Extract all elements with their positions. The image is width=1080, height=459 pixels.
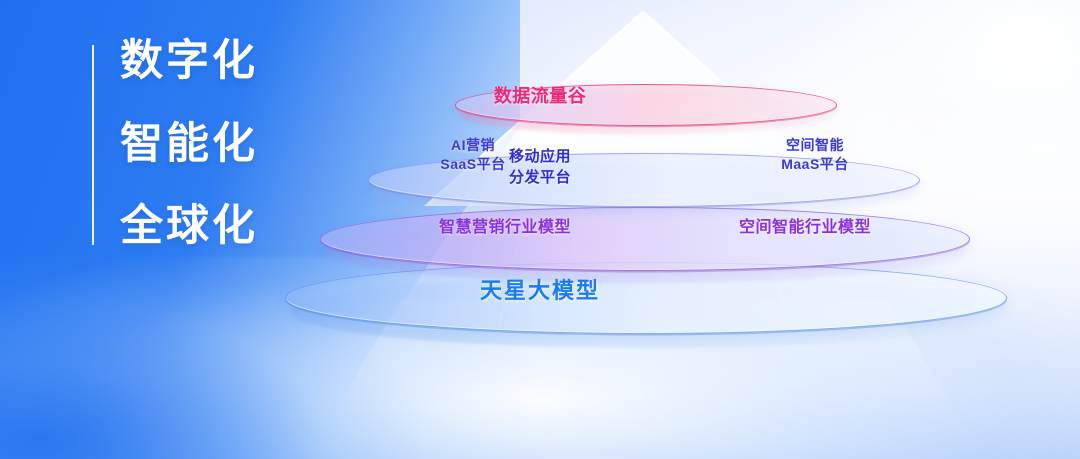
layer-3-label-spatial-intelligence-industry-model: 空间智能行业模型 xyxy=(705,217,905,239)
headline-line-2: 智能化 xyxy=(120,123,258,166)
headline-line-1: 数字化 xyxy=(120,40,258,83)
layer-2-label-spatial-intelligence-maas: 空间智能 MaaS平台 xyxy=(735,136,895,175)
headline-block: 数字化 智能化 全球化 xyxy=(92,40,258,248)
headline-line-3: 全球化 xyxy=(120,205,258,248)
layer-3-label-smart-marketing-industry-model: 智慧营销行业模型 xyxy=(405,217,605,239)
layer-4-label-tianxing-foundation-model: 天星大模型 xyxy=(0,276,1080,306)
infographic-stage: 数据流量谷 AI营销 SaaS平台 移动应用 分发平台 空间智能 MaaS平台 … xyxy=(0,0,1080,459)
